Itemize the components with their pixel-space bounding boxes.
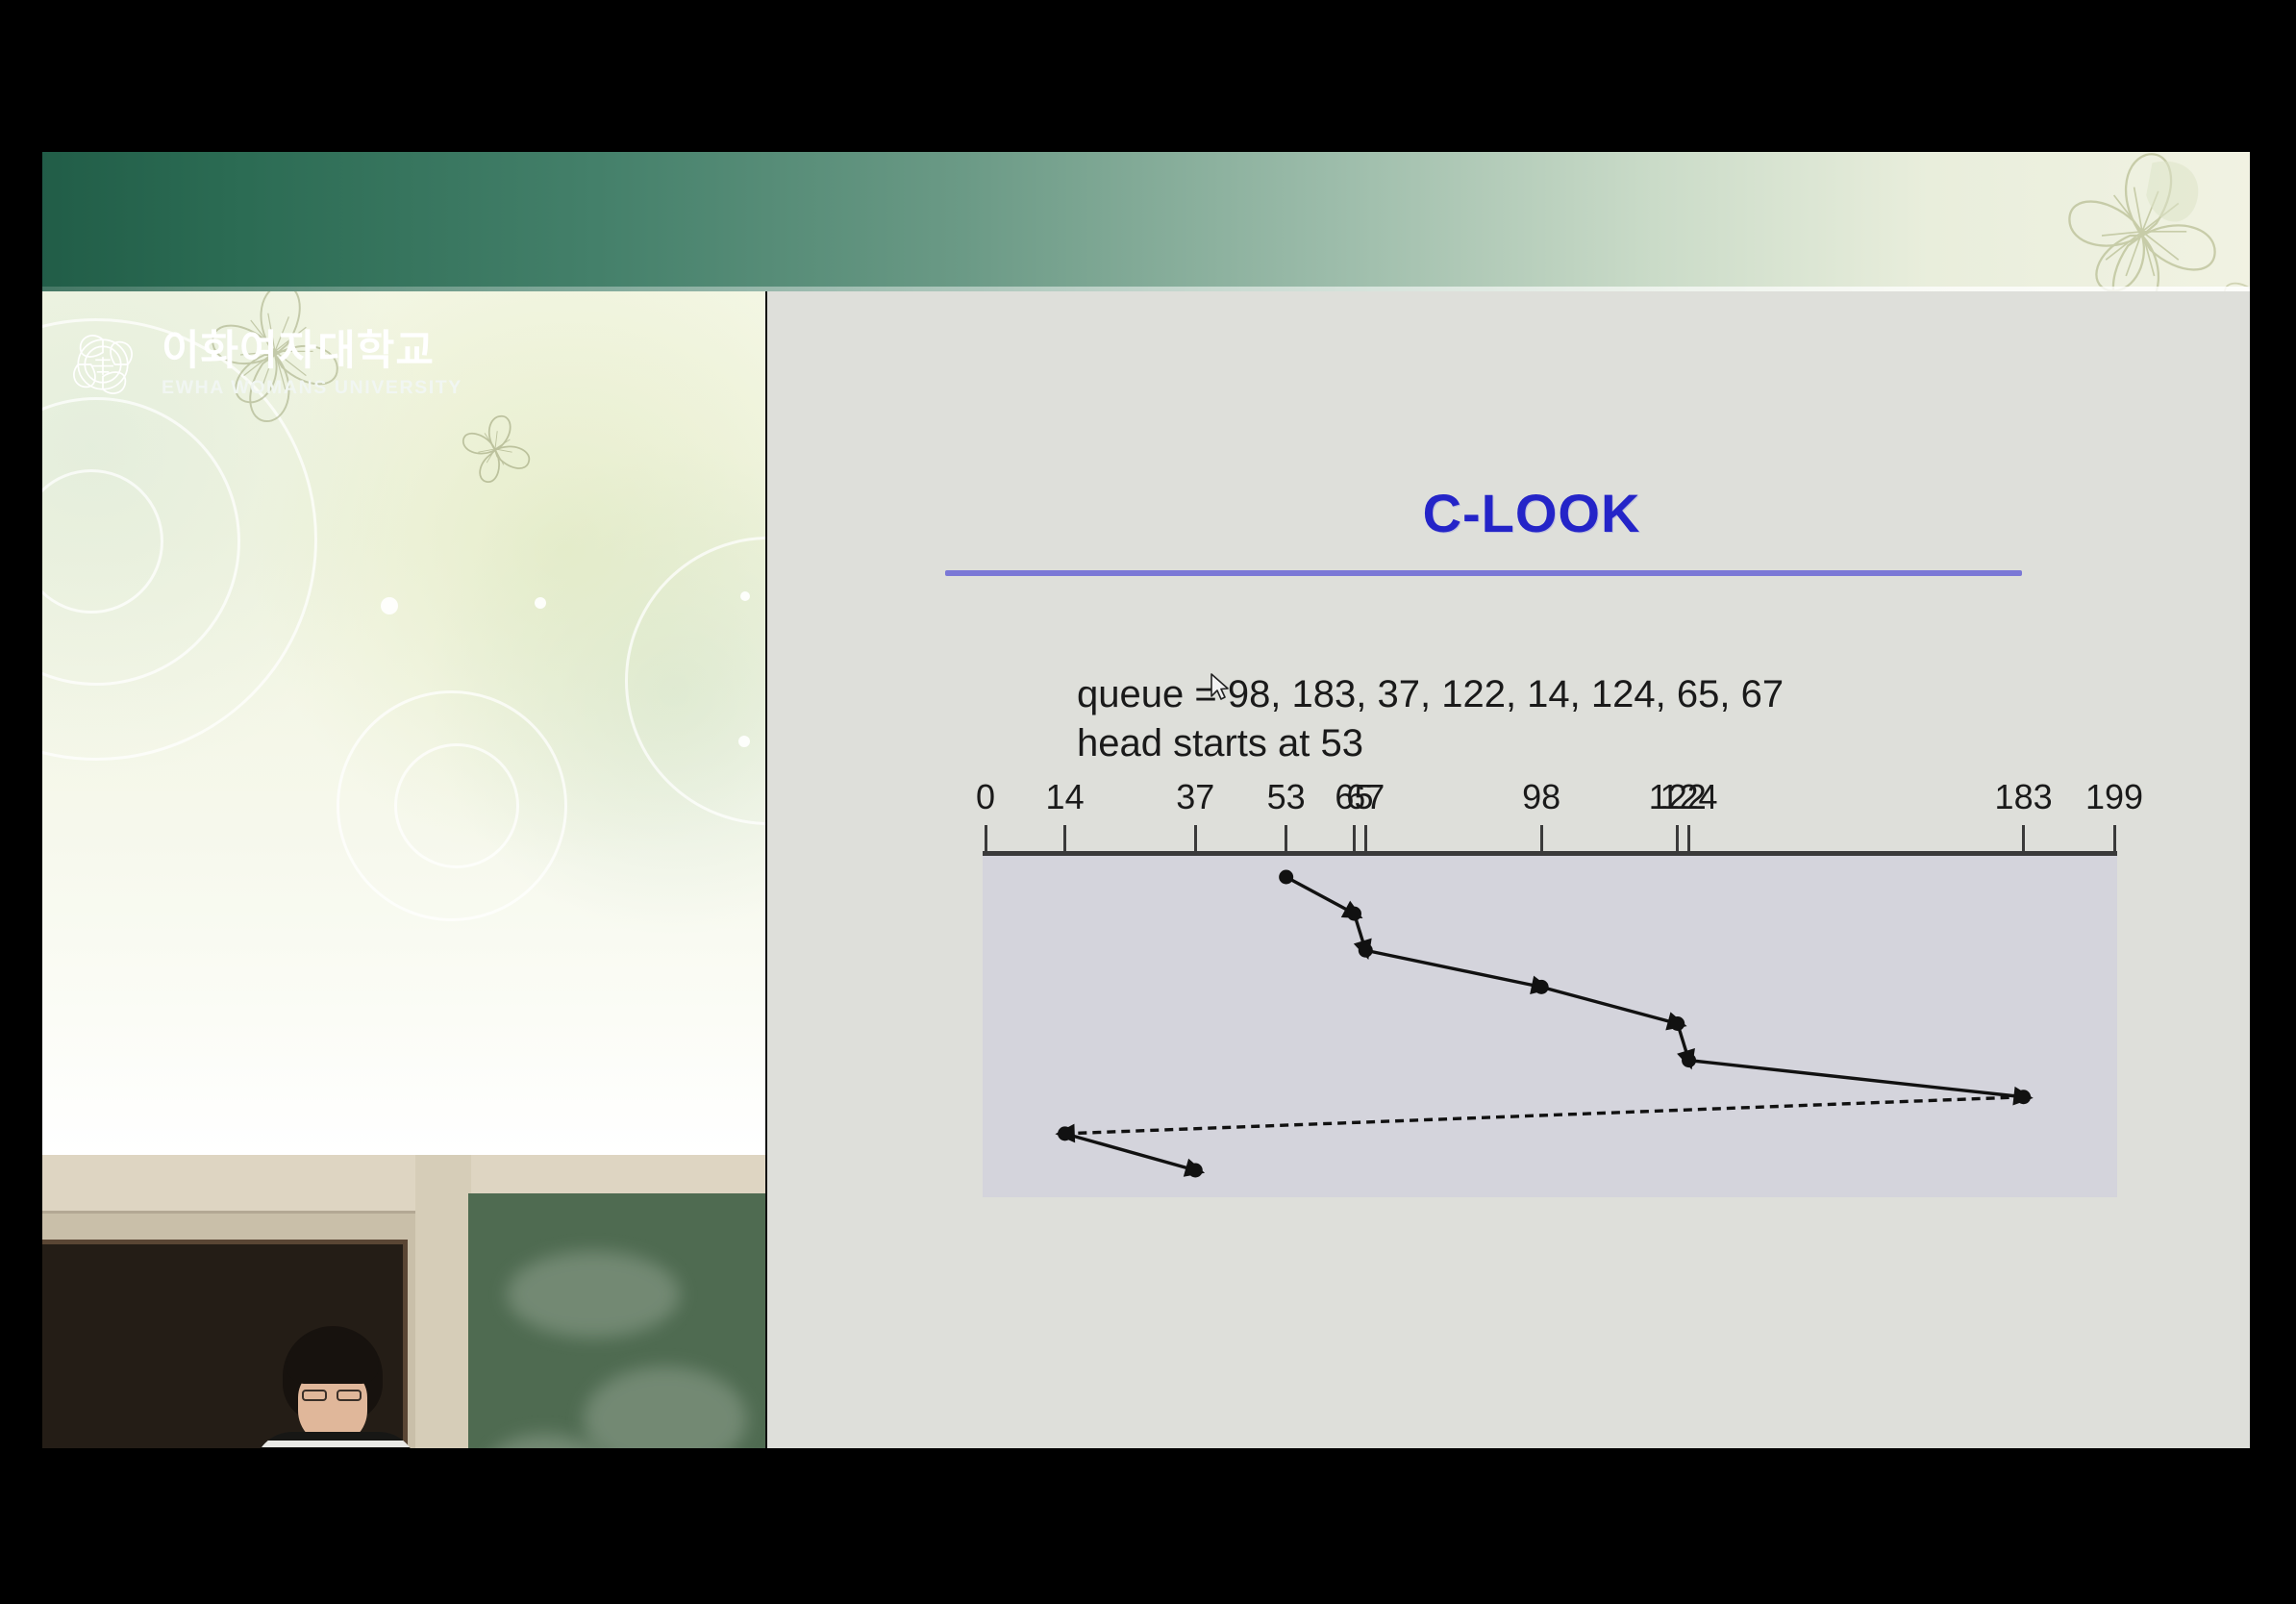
- university-logo: 이화여자대학교 EWHA WOMANS UNIVERSITY: [65, 327, 462, 402]
- logo-korean-name: 이화여자대학교: [162, 331, 462, 372]
- request-point: [1670, 1016, 1685, 1031]
- queue-text: queue = 98, 183, 37, 122, 14, 124, 65, 6…: [1077, 673, 1784, 716]
- seek-segment: [1689, 1061, 2024, 1097]
- slide-title: C-LOOK: [767, 482, 2296, 544]
- x-tick-label: 14: [1046, 777, 1085, 817]
- request-point: [1535, 980, 1549, 994]
- x-tick-label: 199: [2085, 777, 2143, 817]
- x-tick: [1194, 825, 1197, 852]
- x-tick: [985, 825, 987, 852]
- head-movement-path: [983, 856, 2117, 1197]
- head-start-text: head starts at 53: [1077, 722, 1363, 765]
- presentation-slide: C-LOOK queue = 98, 183, 37, 122, 14, 124…: [767, 291, 2296, 1448]
- title-underline: [945, 570, 2022, 576]
- wraparound-segment: [1065, 1097, 2024, 1134]
- x-axis: [983, 825, 2117, 856]
- request-point: [1347, 907, 1361, 921]
- ewha-seal-icon: [65, 327, 140, 402]
- x-tick: [1687, 825, 1690, 852]
- letterbox-right: [2250, 0, 2296, 1604]
- seek-segment: [1541, 987, 1678, 1023]
- x-tick: [1063, 825, 1066, 852]
- disk-scheduling-chart: 0143753656798122124183199: [983, 777, 2117, 1200]
- x-tick: [2113, 825, 2116, 852]
- x-axis-tick-labels: 0143753656798122124183199: [983, 777, 2117, 819]
- seek-segment: [1065, 1134, 1196, 1170]
- x-tick: [1676, 825, 1679, 852]
- seek-segment: [1286, 877, 1355, 914]
- x-tick-label: 53: [1267, 777, 1306, 817]
- request-point: [1279, 870, 1293, 885]
- instructor-webcam-video[interactable]: [0, 1155, 765, 1448]
- x-tick: [1540, 825, 1543, 852]
- x-tick: [1353, 825, 1356, 852]
- blossom-decoration-small-icon: [442, 397, 548, 503]
- x-tick-label: 0: [976, 777, 995, 817]
- request-point: [1188, 1164, 1203, 1178]
- letterbox-left: [0, 0, 42, 1604]
- request-point: [2016, 1090, 2031, 1104]
- x-tick-label: 183: [1995, 777, 2053, 817]
- logo-english-name: EWHA WOMANS UNIVERSITY: [162, 379, 462, 398]
- slide-left-decorative-panel: [0, 291, 765, 1155]
- video-frame: 이화여자대학교 EWHA WOMANS UNIVERSITY: [0, 152, 2296, 1448]
- request-point: [1682, 1053, 1696, 1067]
- request-point: [1359, 943, 1373, 958]
- request-point: [1058, 1126, 1072, 1140]
- screen: 이화여자대학교 EWHA WOMANS UNIVERSITY: [0, 0, 2296, 1604]
- side-greenboard: [468, 1193, 765, 1448]
- letterbox-bottom: [0, 1448, 2296, 1604]
- instructor: [248, 1326, 421, 1448]
- mouse-pointer-icon: [1210, 673, 1231, 702]
- seek-segment: [1365, 950, 1541, 987]
- plot-area: [983, 856, 2117, 1197]
- x-tick-label: 67: [1346, 777, 1385, 817]
- university-header-bar: [0, 152, 2296, 291]
- x-tick: [1285, 825, 1287, 852]
- x-tick-label: 37: [1176, 777, 1214, 817]
- x-tick-label: 124: [1660, 777, 1717, 817]
- x-tick: [1364, 825, 1367, 852]
- x-tick-label: 98: [1522, 777, 1560, 817]
- x-tick: [2022, 825, 2025, 852]
- letterbox-top: [0, 0, 2296, 152]
